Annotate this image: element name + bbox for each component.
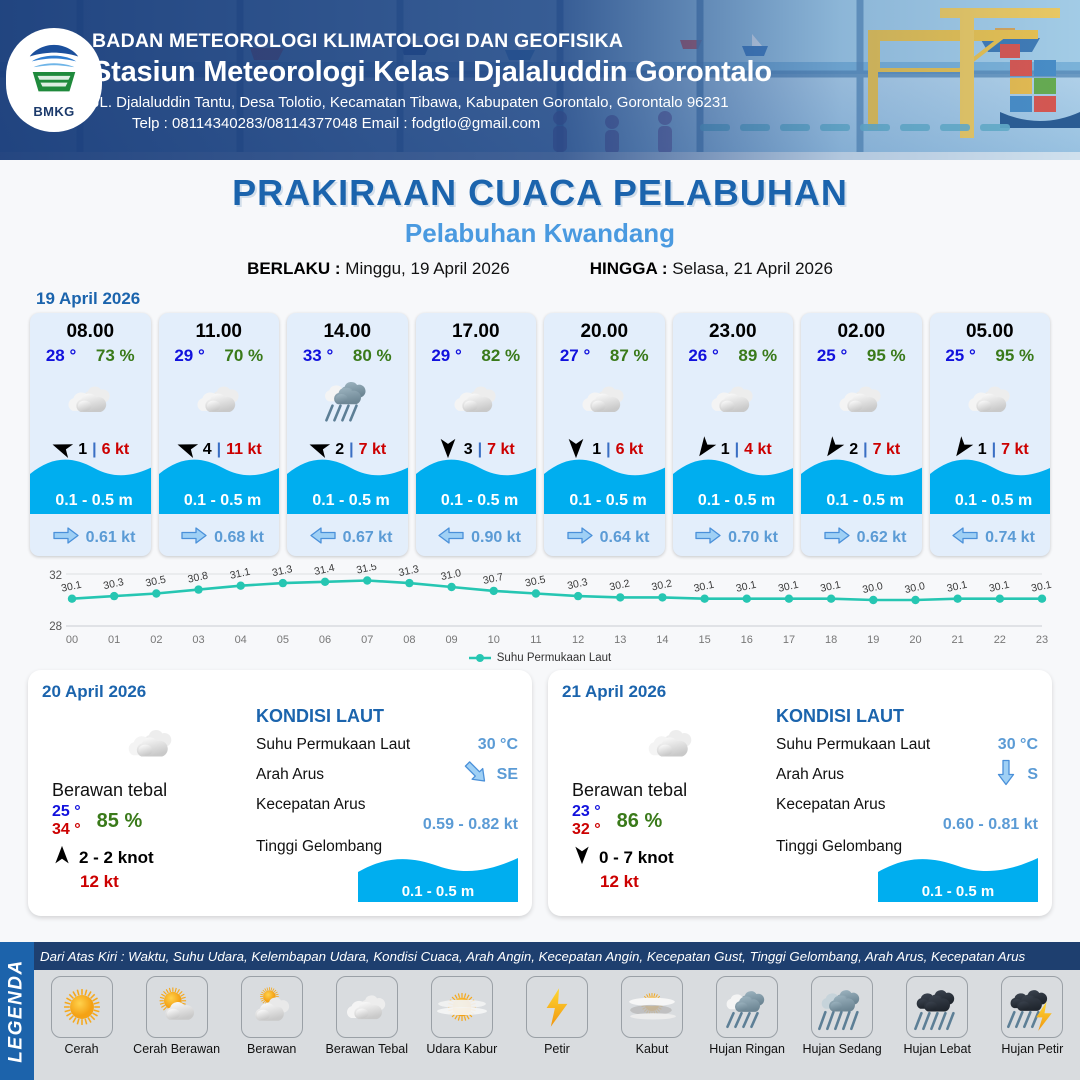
card-wave-height: 0.1 - 0.5 m (30, 492, 151, 510)
panel-humidity: 86 % (617, 810, 663, 833)
panel-date: 20 April 2026 (42, 682, 518, 702)
card-humidity: 89 % (738, 346, 777, 366)
card-current-row: 0.64 kt (544, 526, 665, 550)
card-temp-hum-row: 27 ° 87 % (544, 343, 665, 366)
hingga-value: Selasa, 21 April 2026 (672, 259, 833, 278)
forecast-card: 17.00 29 ° 82 % 3 | (416, 313, 537, 556)
card-time: 02.00 (801, 313, 922, 343)
card-current-row: 0.62 kt (801, 526, 922, 550)
sst-chart-svg: 322830.10030.30130.50230.80331.10431.305… (28, 564, 1052, 650)
svg-text:30.7: 30.7 (482, 571, 505, 587)
weather-petir-icon (526, 976, 588, 1038)
svg-text:11: 11 (530, 634, 541, 646)
legend-item-label: Cerah Berawan (133, 1042, 221, 1056)
card-temp-hum-row: 26 ° 89 % (673, 343, 794, 366)
svg-text:01: 01 (108, 634, 120, 646)
weather-berawan-tebal-icon (159, 370, 280, 428)
card-temp-hum-row: 29 ° 70 % (159, 343, 280, 366)
legend-item: Hujan Petir (988, 976, 1076, 1056)
card-temperature: 27 ° (560, 346, 590, 366)
svg-text:31.1: 31.1 (229, 566, 252, 582)
legend-item: Hujan Ringan (703, 976, 791, 1056)
card-humidity: 82 % (481, 346, 520, 366)
panel-wind-text: 2 - 2 knot (79, 848, 154, 868)
panel-temp-max: 32 ° (572, 821, 601, 839)
card-current-row: 0.68 kt (159, 526, 280, 550)
svg-text:30.8: 30.8 (187, 570, 210, 586)
panel-temp-column: 25 ° 34 ° (52, 803, 81, 839)
svg-text:19: 19 (867, 634, 879, 646)
card-current-row: 0.70 kt (673, 526, 794, 550)
weather-udara-kabur-icon (431, 976, 493, 1038)
weather-hujan-lebat-icon (906, 976, 968, 1038)
card-temperature: 33 ° (303, 346, 333, 366)
legend-item: Petir (513, 976, 601, 1056)
sea-conditions-title: KONDISI LAUT (776, 706, 1038, 727)
current-speed-value: 0.60 - 0.81 kt (776, 816, 1038, 834)
card-temp-hum-row: 25 ° 95 % (930, 343, 1051, 366)
panel-wind-row: 2 - 2 knot (46, 845, 246, 870)
card-temperature: 28 ° (46, 346, 76, 366)
sst-row: Suhu Permukaan Laut 30 °C (256, 736, 518, 754)
svg-text:09: 09 (445, 634, 457, 646)
panel-gust: 12 kt (566, 872, 766, 892)
svg-text:17: 17 (783, 634, 795, 646)
panel-left-column: Berawan tebal 23 ° 32 ° 86 % 0 - 7 knot … (566, 712, 766, 892)
hingga-group: HINGGA : Selasa, 21 April 2026 (590, 259, 833, 279)
panel-sea-column: KONDISI LAUT Suhu Permukaan Laut 30 °C A… (256, 706, 518, 856)
card-current-speed: 0.68 kt (214, 529, 264, 547)
card-wave-height: 0.1 - 0.5 m (673, 492, 794, 510)
svg-text:31.4: 31.4 (313, 564, 336, 578)
current-speed-label: Kecepatan Arus (256, 796, 365, 813)
card-time: 08.00 (30, 313, 151, 343)
legend-item-label: Hujan Lebat (893, 1042, 981, 1056)
card-wave-height: 0.1 - 0.5 m (287, 492, 408, 510)
forecast-card: 05.00 25 ° 95 % 1 | (930, 313, 1051, 556)
legend-item: Hujan Lebat (893, 976, 981, 1056)
card-current-row: 0.90 kt (416, 526, 537, 550)
svg-text:30.2: 30.2 (608, 577, 631, 593)
legend-item: Berawan Tebal (323, 976, 411, 1056)
card-current-speed: 0.70 kt (728, 529, 778, 547)
svg-text:00: 00 (66, 634, 78, 646)
card-temp-hum-row: 28 ° 73 % (30, 343, 151, 366)
legend-item: Hujan Sedang (798, 976, 886, 1056)
legenda-sidebar: LEGENDA (0, 942, 34, 1080)
svg-text:30.1: 30.1 (777, 579, 800, 595)
current-direction-arrow-icon (695, 526, 721, 550)
svg-text:30.1: 30.1 (60, 579, 83, 595)
svg-text:31.0: 31.0 (440, 567, 463, 583)
legend-item-label: Hujan Sedang (798, 1042, 886, 1056)
legend-item-label: Udara Kabur (418, 1042, 506, 1056)
svg-text:28: 28 (49, 621, 62, 633)
forecast-card: 02.00 25 ° 95 % 2 | (801, 313, 922, 556)
card-temperature: 25 ° (817, 346, 847, 366)
title-block: PRAKIRAAN CUACA PELABUHAN Pelabuhan Kwan… (0, 160, 1080, 279)
card-time: 20.00 (544, 313, 665, 343)
card-current-row: 0.67 kt (287, 526, 408, 550)
weather-berawan-tebal-icon (544, 370, 665, 428)
card-temp-hum-row: 33 ° 80 % (287, 343, 408, 366)
current-direction-label: Arah Arus (776, 766, 844, 784)
svg-text:32: 32 (49, 570, 62, 582)
svg-text:15: 15 (698, 634, 710, 646)
card-wave-height: 0.1 - 0.5 m (159, 492, 280, 510)
station-name: Stasiun Meteorologi Kelas I Djalaluddin … (92, 56, 772, 89)
panel-condition: Berawan tebal (566, 780, 766, 801)
legend-item-label: Kabut (608, 1042, 696, 1056)
card-wave-height: 0.1 - 0.5 m (416, 492, 537, 510)
legend-icon-strip: Cerah Cerah Berawan (34, 970, 1080, 1080)
svg-text:23: 23 (1036, 634, 1048, 646)
svg-text:30.3: 30.3 (102, 576, 125, 592)
sea-conditions-title: KONDISI LAUT (256, 706, 518, 727)
berlaku-value: Minggu, 19 April 2026 (345, 259, 509, 278)
svg-text:30.1: 30.1 (819, 579, 842, 595)
sst-label: Suhu Permukaan Laut (776, 736, 930, 754)
svg-text:02: 02 (150, 634, 162, 646)
forecast-card: 20.00 27 ° 87 % 1 | (544, 313, 665, 556)
current-direction-arrow-icon (463, 763, 489, 787)
card-current-row: 0.61 kt (30, 526, 151, 550)
weather-hujan-petir-icon (1001, 976, 1063, 1038)
berlaku-group: BERLAKU : Minggu, 19 April 2026 (247, 259, 510, 279)
weather-berawan-tebal-icon (801, 370, 922, 428)
current-speed-block: Kecepatan Arus 0.60 - 0.81 kt (776, 796, 1038, 834)
svg-text:30.1: 30.1 (1030, 579, 1052, 595)
page-title: PRAKIRAAN CUACA PELABUHAN (0, 172, 1080, 214)
svg-text:18: 18 (825, 634, 837, 646)
panel-wave-value: 0.1 - 0.5 m (878, 883, 1038, 900)
card-current-row: 0.74 kt (930, 526, 1051, 550)
current-direction-value: S (1027, 766, 1038, 784)
wave-block: Tinggi Gelombang 0.1 - 0.5 m (776, 838, 1038, 856)
legend-note: Dari Atas Kiri : Waktu, Suhu Udara, Kele… (40, 949, 1074, 964)
current-direction-arrow-icon (824, 526, 850, 550)
current-direction-row: Arah Arus S (776, 763, 1038, 787)
svg-text:14: 14 (656, 634, 668, 646)
card-wave-height: 0.1 - 0.5 m (801, 492, 922, 510)
legend-item-label: Cerah (38, 1042, 126, 1056)
current-direction-value: SE (497, 766, 518, 784)
card-wave-height: 0.1 - 0.5 m (930, 492, 1051, 510)
current-speed-value: 0.59 - 0.82 kt (256, 816, 518, 834)
svg-text:10: 10 (488, 634, 500, 646)
weather-berawan-tebal-icon (30, 370, 151, 428)
weather-cerah-berawan-icon (146, 976, 208, 1038)
wind-direction-arrow-icon (572, 845, 592, 870)
station-address: JL. Djalaluddin Tantu, Desa Tolotio, Kec… (92, 94, 772, 111)
card-time: 11.00 (159, 313, 280, 343)
sst-label: Suhu Permukaan Laut (256, 736, 410, 754)
svg-text:30.5: 30.5 (144, 574, 167, 590)
panel-temp-hum: 25 ° 34 ° 85 % (46, 803, 246, 839)
panel-left-column: Berawan tebal 25 ° 34 ° 85 % 2 - 2 knot … (46, 712, 246, 892)
current-direction-row: Arah Arus SE (256, 763, 518, 787)
svg-text:12: 12 (572, 634, 584, 646)
card-current-speed: 0.64 kt (600, 529, 650, 547)
panel-temp-hum: 23 ° 32 ° 86 % (566, 803, 766, 839)
card-humidity: 80 % (353, 346, 392, 366)
weather-hujan-ringan-icon (716, 976, 778, 1038)
forecast-card: 08.00 28 ° 73 % 1 | (30, 313, 151, 556)
panel-temp-column: 23 ° 32 ° (572, 803, 601, 839)
chart-legend-marker (469, 653, 491, 663)
card-humidity: 95 % (867, 346, 906, 366)
legend-item-label: Berawan Tebal (323, 1042, 411, 1056)
card-temperature: 26 ° (688, 346, 718, 366)
daily-panels: 20 April 2026 Berawan tebal 25 ° (0, 664, 1080, 916)
wind-direction-arrow-icon (52, 845, 72, 870)
card-current-speed: 0.62 kt (857, 529, 907, 547)
weather-berawan-tebal-icon (336, 976, 398, 1038)
card-wave-height: 0.1 - 0.5 m (544, 492, 665, 510)
panel-wave-value: 0.1 - 0.5 m (358, 883, 518, 900)
svg-text:30.1: 30.1 (988, 579, 1011, 595)
legenda-label: LEGENDA (6, 959, 28, 1062)
svg-text:30.1: 30.1 (693, 579, 716, 595)
station-contact: Telp : 08114340283/08114377048 Email : f… (92, 115, 772, 132)
svg-text:08: 08 (403, 634, 415, 646)
current-direction-arrow-icon (310, 526, 336, 550)
svg-text:06: 06 (319, 634, 331, 646)
weather-berawan-tebal-icon (566, 712, 766, 774)
svg-text:07: 07 (361, 634, 373, 646)
panel-temp-min: 23 ° (572, 803, 601, 821)
svg-text:22: 22 (994, 634, 1006, 646)
card-current-speed: 0.61 kt (86, 529, 136, 547)
wave-block: Tinggi Gelombang 0.1 - 0.5 m (256, 838, 518, 856)
svg-text:30.1: 30.1 (946, 579, 969, 595)
legend-item: Kabut (608, 976, 696, 1056)
forecast-card: 14.00 33 ° 80 % 2 | (287, 313, 408, 556)
bmkg-logo: BMKG (6, 28, 102, 132)
panel-gust: 12 kt (46, 872, 246, 892)
card-temp-hum-row: 29 ° 82 % (416, 343, 537, 366)
weather-hujan-ringan-icon (287, 370, 408, 428)
daily-forecast-panel: 21 April 2026 Berawan tebal 23 ° (548, 670, 1052, 916)
legend-footer: LEGENDA Dari Atas Kiri : Waktu, Suhu Uda… (0, 942, 1080, 1080)
current-direction-label: Arah Arus (256, 766, 324, 784)
hingga-label: HINGGA : (590, 259, 668, 278)
svg-text:30.0: 30.0 (904, 580, 927, 596)
svg-text:05: 05 (277, 634, 289, 646)
card-humidity: 95 % (995, 346, 1034, 366)
weather-kabut-icon (621, 976, 683, 1038)
legend-item-label: Petir (513, 1042, 601, 1056)
legend-item-label: Berawan (228, 1042, 316, 1056)
sst-value: 30 °C (478, 736, 518, 754)
card-time: 14.00 (287, 313, 408, 343)
panel-date: 21 April 2026 (562, 682, 1038, 702)
current-direction-arrow-icon (438, 526, 464, 550)
weather-berawan-icon (241, 976, 303, 1038)
card-current-speed: 0.90 kt (471, 529, 521, 547)
panel-temp-min: 25 ° (52, 803, 81, 821)
svg-text:13: 13 (614, 634, 626, 646)
forecast-card-row: 08.00 28 ° 73 % 1 | (0, 313, 1080, 556)
validity-row: BERLAKU : Minggu, 19 April 2026 HINGGA :… (0, 259, 1080, 279)
svg-text:31.3: 31.3 (271, 564, 294, 579)
svg-text:04: 04 (235, 634, 247, 646)
legend-item: Cerah Berawan (133, 976, 221, 1056)
card-temperature: 29 ° (431, 346, 461, 366)
weather-berawan-tebal-icon (416, 370, 537, 428)
svg-text:03: 03 (192, 634, 204, 646)
svg-text:21: 21 (952, 634, 964, 646)
legend-item: Berawan (228, 976, 316, 1056)
card-temp-hum-row: 25 ° 95 % (801, 343, 922, 366)
chart-legend-label: Suhu Permukaan Laut (497, 652, 611, 664)
weather-cerah-icon (51, 976, 113, 1038)
agency-name: BADAN METEOROLOGI KLIMATOLOGI DAN GEOFIS… (92, 30, 772, 53)
berlaku-label: BERLAKU : (247, 259, 341, 278)
panel-condition: Berawan tebal (46, 780, 246, 801)
sst-chart: 322830.10030.30130.50230.80331.10431.305… (28, 564, 1052, 650)
current-direction-value-group: S (993, 763, 1038, 787)
forecast-card: 23.00 26 ° 89 % 1 | (673, 313, 794, 556)
card-current-speed: 0.74 kt (985, 529, 1035, 547)
bmkg-logo-text: BMKG (33, 104, 74, 119)
svg-text:31.5: 31.5 (355, 564, 378, 577)
svg-text:31.3: 31.3 (398, 564, 421, 579)
svg-text:20: 20 (909, 634, 921, 646)
current-direction-arrow-icon (181, 526, 207, 550)
current-direction-arrow-icon (53, 526, 79, 550)
svg-text:30.0: 30.0 (861, 580, 884, 596)
sst-value: 30 °C (998, 736, 1038, 754)
panel-humidity: 85 % (97, 810, 143, 833)
chart-legend: Suhu Permukaan Laut (0, 652, 1080, 664)
weather-hujan-sedang-icon (811, 976, 873, 1038)
current-speed-block: Kecepatan Arus 0.59 - 0.82 kt (256, 796, 518, 834)
panel-wind-text: 0 - 7 knot (599, 848, 674, 868)
svg-text:30.2: 30.2 (651, 577, 674, 593)
legend-item: Udara Kabur (418, 976, 506, 1056)
svg-text:30.5: 30.5 (524, 574, 547, 590)
current-direction-arrow-icon (993, 763, 1019, 787)
page-subtitle: Pelabuhan Kwandang (0, 218, 1080, 249)
card-time: 23.00 (673, 313, 794, 343)
page-header: BMKG BADAN METEOROLOGI KLIMATOLOGI DAN G… (0, 0, 1080, 160)
panel-wind-row: 0 - 7 knot (566, 845, 766, 870)
card-temperature: 29 ° (174, 346, 204, 366)
current-direction-arrow-icon (567, 526, 593, 550)
svg-text:30.3: 30.3 (566, 576, 589, 592)
svg-text:16: 16 (741, 634, 753, 646)
current-speed-label: Kecepatan Arus (776, 796, 885, 813)
card-temperature: 25 ° (945, 346, 975, 366)
forecast-date-label: 19 April 2026 (36, 289, 1080, 309)
current-direction-arrow-icon (952, 526, 978, 550)
header-text-block: BADAN METEOROLOGI KLIMATOLOGI DAN GEOFIS… (92, 30, 772, 132)
card-humidity: 73 % (96, 346, 135, 366)
bmkg-logo-icon (25, 41, 83, 103)
sst-row: Suhu Permukaan Laut 30 °C (776, 736, 1038, 754)
card-humidity: 87 % (610, 346, 649, 366)
current-direction-value-group: SE (463, 763, 518, 787)
card-time: 17.00 (416, 313, 537, 343)
card-time: 05.00 (930, 313, 1051, 343)
legend-item: Cerah (38, 976, 126, 1056)
legend-item-label: Hujan Petir (988, 1042, 1076, 1056)
forecast-card: 11.00 29 ° 70 % 4 | (159, 313, 280, 556)
panel-temp-max: 34 ° (52, 821, 81, 839)
weather-berawan-tebal-icon (930, 370, 1051, 428)
legend-item-label: Hujan Ringan (703, 1042, 791, 1056)
weather-berawan-tebal-icon (673, 370, 794, 428)
panel-sea-column: KONDISI LAUT Suhu Permukaan Laut 30 °C A… (776, 706, 1038, 856)
svg-text:30.1: 30.1 (735, 579, 758, 595)
daily-forecast-panel: 20 April 2026 Berawan tebal 25 ° (28, 670, 532, 916)
card-humidity: 70 % (224, 346, 263, 366)
card-current-speed: 0.67 kt (343, 529, 393, 547)
weather-berawan-tebal-icon (46, 712, 246, 774)
